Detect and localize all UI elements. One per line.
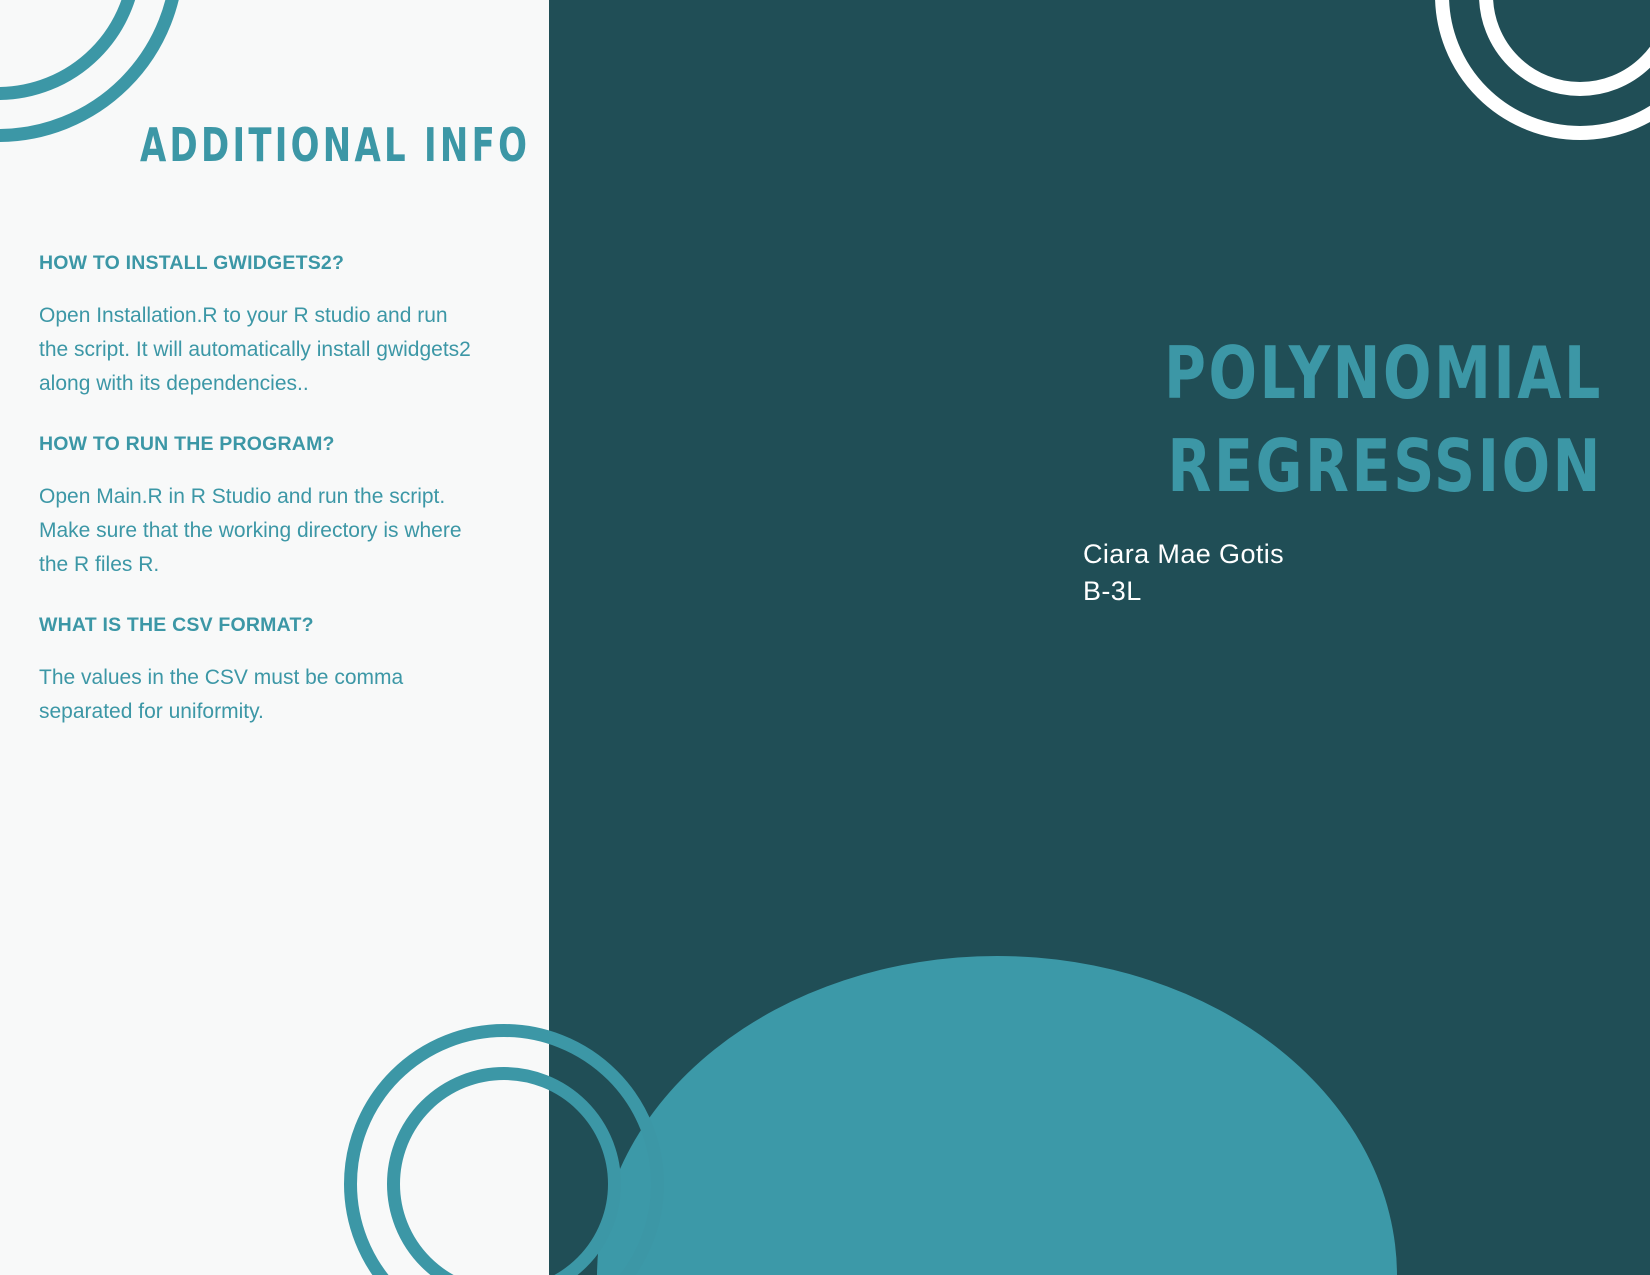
faq-list: HOW TO INSTALL GWIDGETS2? Open Installat… (39, 252, 479, 729)
document-title-line-1: POLYNOMIAL (1145, 327, 1603, 420)
author-block: Ciara Mae Gotis B-3L (1083, 536, 1284, 610)
decorative-teal-blob (597, 956, 1397, 1275)
right-dark-panel: POLYNOMIAL REGRESSION Ciara Mae Gotis B-… (549, 0, 1650, 1275)
faq-question: HOW TO INSTALL GWIDGETS2? (39, 252, 479, 275)
faq-question: HOW TO RUN THE PROGRAM? (39, 433, 479, 456)
document-title-line-2: REGRESSION (1145, 420, 1603, 513)
faq-answer: Open Main.R in R Studio and run the scri… (39, 480, 479, 582)
faq-answer: Open Installation.R to your R studio and… (39, 299, 479, 401)
author-name: Ciara Mae Gotis (1083, 536, 1284, 573)
author-section: B-3L (1083, 573, 1284, 610)
brochure-page: POLYNOMIAL REGRESSION Ciara Mae Gotis B-… (0, 0, 1650, 1275)
document-title: POLYNOMIAL REGRESSION (1145, 327, 1603, 513)
faq-answer: The values in the CSV must be comma sepa… (39, 661, 479, 729)
section-heading: ADDITIONAL INFO (140, 118, 530, 172)
faq-question: WHAT IS THE CSV FORMAT? (39, 614, 479, 637)
